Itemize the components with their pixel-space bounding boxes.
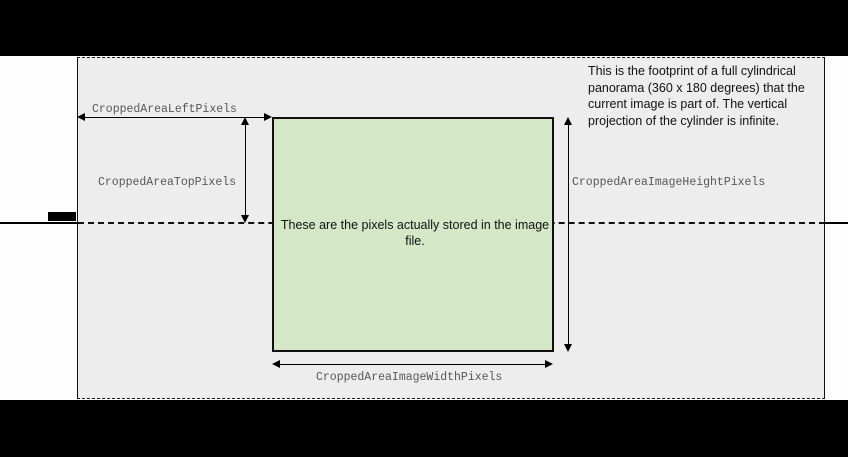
label-cropped-area-left-pixels: CroppedAreaLeftPixels bbox=[92, 103, 237, 116]
horizon-line-left bbox=[0, 222, 78, 224]
arrow-image-height-head-end bbox=[564, 344, 572, 352]
stored-pixels-rect: These are the pixels actually stored in … bbox=[272, 117, 554, 352]
arrow-top-pixels-line bbox=[245, 121, 246, 219]
arrow-image-width-head-end bbox=[545, 360, 553, 368]
stored-pixels-note: These are the pixels actually stored in … bbox=[274, 217, 556, 249]
arrow-top-pixels-head-end bbox=[241, 215, 249, 223]
arrow-left-pixels-head-start bbox=[77, 113, 85, 121]
arrow-top-pixels-head-start bbox=[241, 117, 249, 125]
horizon-marker-block bbox=[48, 212, 76, 221]
diagram-canvas: These are the pixels actually stored in … bbox=[0, 0, 848, 457]
arrow-image-height-head-start bbox=[564, 117, 572, 125]
arrow-left-pixels-head-end bbox=[264, 113, 272, 121]
arrow-image-width-head-start bbox=[272, 360, 280, 368]
horizon-line-right bbox=[824, 222, 848, 224]
panorama-note: This is the footprint of a full cylindri… bbox=[588, 63, 828, 129]
label-cropped-area-image-height-pixels: CroppedAreaImageHeightPixels bbox=[572, 176, 765, 189]
arrow-image-height-line bbox=[568, 121, 569, 349]
arrow-image-width-line bbox=[275, 364, 550, 365]
label-cropped-area-image-width-pixels: CroppedAreaImageWidthPixels bbox=[316, 371, 502, 384]
label-cropped-area-top-pixels: CroppedAreaTopPixels bbox=[98, 176, 236, 189]
